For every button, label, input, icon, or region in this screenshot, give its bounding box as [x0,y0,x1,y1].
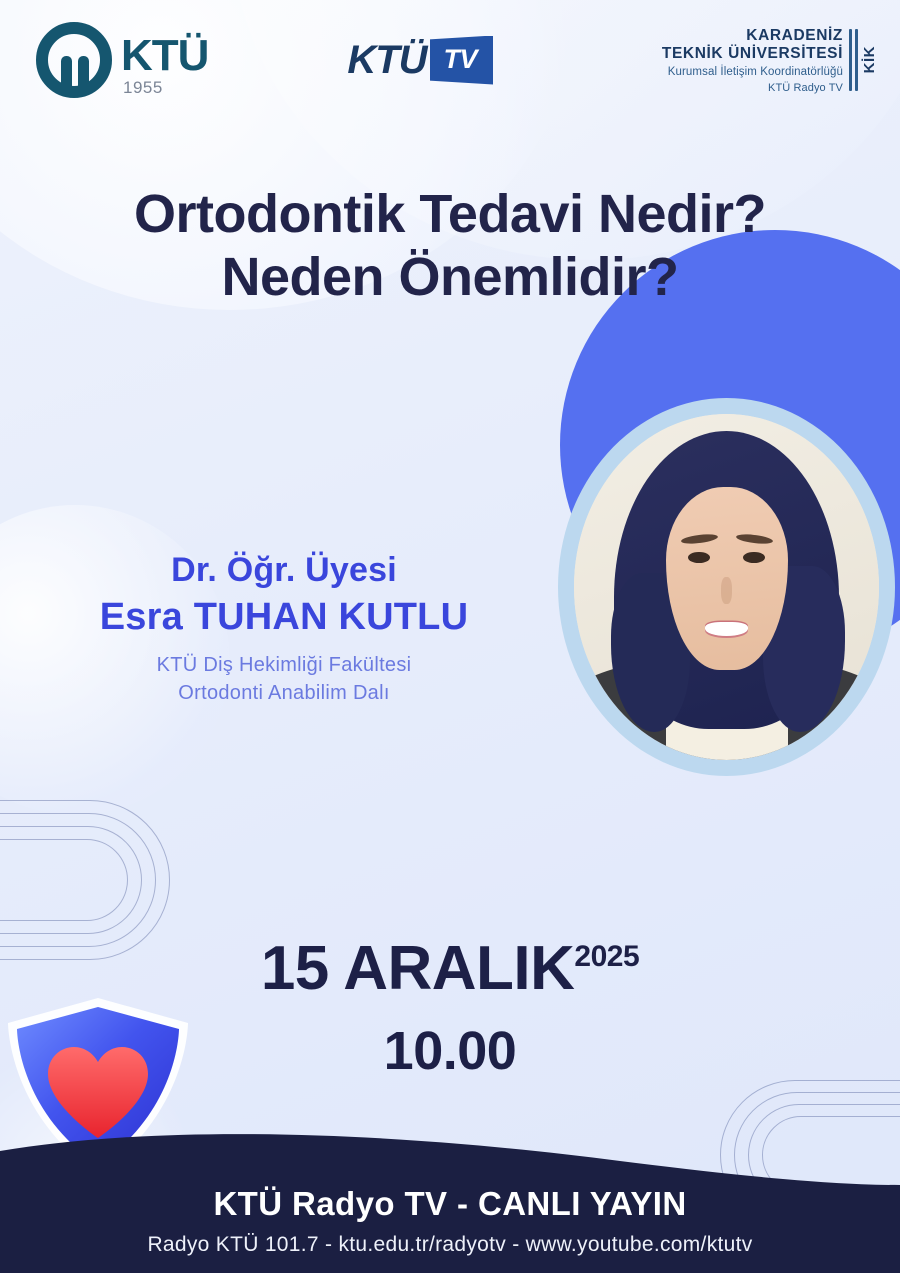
ktu-roundel-icon [34,20,114,100]
ktu-university-logo: KTÜ 1955 [34,20,208,100]
event-poster: KTÜ 1955 KTÜ TV KARADENİZ TEKNİK ÜNİVERS… [0,0,900,1273]
speaker-department-line1: KTÜ Diş Hekimliği Fakültesi [26,652,542,680]
speaker-name: Esra TUHAN KUTLU [26,593,542,642]
right-logo-bars-icon: KİK [849,25,878,96]
right-logo-line4: KTÜ Radyo TV [662,81,843,96]
ktu-tv-logo-word: KTÜ [347,38,426,83]
speaker-academic-title: Dr. Öğr. Üyesi [26,548,542,593]
footer-headline: KTÜ Radyo TV - CANLI YAYIN [0,1185,900,1223]
right-logo-kik: KİK [861,46,878,73]
event-datetime: 15 ARALIK 2025 10.00 [0,938,900,1082]
ktu-tv-logo: KTÜ TV [347,36,493,85]
right-logo-line1: KARADENİZ [662,27,843,45]
speaker-photo [558,398,895,776]
corporate-communication-logo: KARADENİZ TEKNİK ÜNİVERSİTESİ Kurumsal İ… [662,25,878,96]
speaker-department-line2: Ortodonti Anabilim Dalı [26,680,542,708]
event-date: 15 ARALIK [261,938,575,1000]
ktu-logo-word: KTÜ [121,35,208,77]
right-logo-line3: Kurumsal İletişim Koordinatörlüğü [662,65,843,81]
right-logo-line2: TEKNİK ÜNİVERSİTESİ [662,45,843,63]
speaker-info: Dr. Öğr. Üyesi Esra TUHAN KUTLU KTÜ Diş … [26,548,542,707]
speaker-portrait-image [574,414,879,760]
title-line-2: Neden Önemlidir? [0,246,900,309]
poster-footer: KTÜ Radyo TV - CANLI YAYIN Radyo KTÜ 101… [0,1113,900,1273]
poster-title: Ortodontik Tedavi Nedir? Neden Önemlidir… [0,183,900,309]
event-year: 2025 [574,940,639,974]
poster-header: KTÜ 1955 KTÜ TV KARADENİZ TEKNİK ÜNİVERS… [0,0,900,120]
ktu-logo-year: 1955 [123,78,208,98]
title-line-1: Ortodontik Tedavi Nedir? [0,183,900,246]
decorative-lines-left [0,800,170,960]
footer-details: Radyo KTÜ 101.7 - ktu.edu.tr/radyotv - w… [0,1233,900,1257]
event-time: 10.00 [0,1020,900,1082]
ktu-tv-logo-badge: TV [430,36,494,85]
